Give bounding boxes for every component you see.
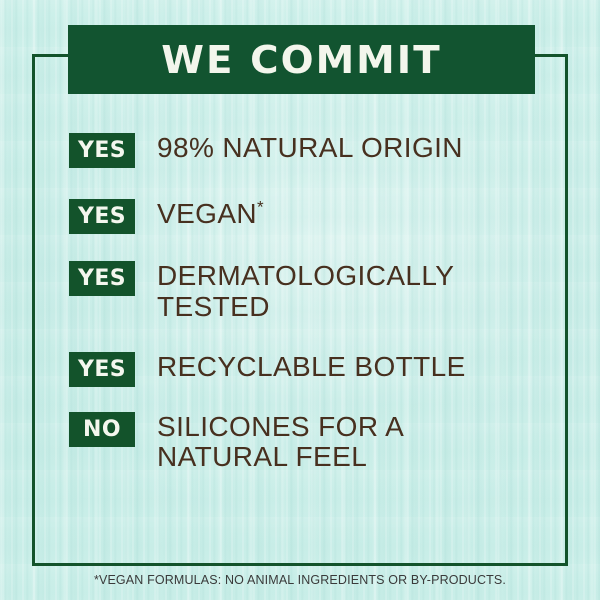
- badge-no: NO: [69, 412, 135, 447]
- claim-row: YES98% NATURAL ORIGIN: [69, 132, 539, 168]
- claim-label: DERMATOLOGICALLY TESTED: [157, 260, 539, 323]
- claim-row: YESVEGAN*: [69, 198, 539, 234]
- claim-row: NOSILICONES FOR A NATURAL FEEL: [69, 411, 539, 474]
- footnote-marker-asterisk: *: [257, 198, 264, 217]
- badge-yes: YES: [69, 352, 135, 387]
- claim-label-text: VEGAN: [157, 198, 257, 229]
- badge-yes: YES: [69, 199, 135, 234]
- claim-label: RECYCLABLE BOTTLE: [157, 351, 466, 383]
- claim-row: YESDERMATOLOGICALLY TESTED: [69, 260, 539, 323]
- claim-label: SILICONES FOR A NATURAL FEEL: [157, 411, 539, 474]
- claim-label: VEGAN*: [157, 198, 264, 230]
- claim-row: YESRECYCLABLE BOTTLE: [69, 351, 539, 387]
- page-title: WE COMMIT: [161, 41, 441, 79]
- badge-yes: YES: [69, 133, 135, 168]
- claim-label-text: SILICONES FOR A NATURAL FEEL: [157, 411, 403, 473]
- claim-label-text: 98% NATURAL ORIGIN: [157, 132, 463, 163]
- commitment-poster: WE COMMIT YES98% NATURAL ORIGINYESVEGAN*…: [0, 0, 600, 600]
- footnote-text: *VEGAN FORMULAS: NO ANIMAL INGREDIENTS O…: [0, 573, 600, 587]
- claim-label: 98% NATURAL ORIGIN: [157, 132, 463, 164]
- claim-label-text: RECYCLABLE BOTTLE: [157, 351, 466, 382]
- claim-label-text: DERMATOLOGICALLY TESTED: [157, 260, 454, 322]
- claims-list: YES98% NATURAL ORIGINYESVEGAN*YESDERMATO…: [69, 132, 539, 473]
- header-banner: WE COMMIT: [68, 25, 535, 94]
- badge-yes: YES: [69, 261, 135, 296]
